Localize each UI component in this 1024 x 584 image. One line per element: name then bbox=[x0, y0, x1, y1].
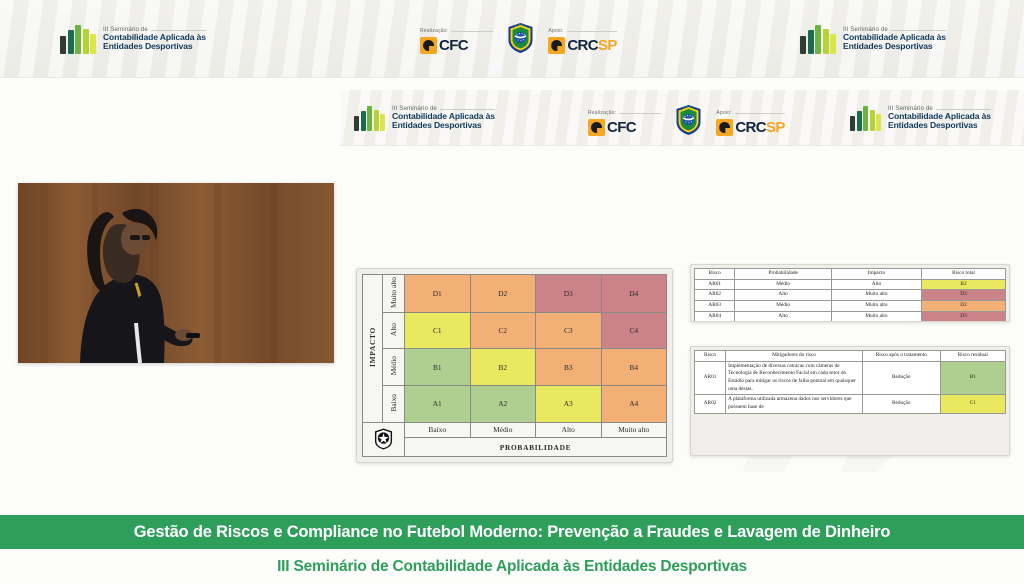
cell-impacto: Alto bbox=[831, 279, 921, 290]
slide-partner-logos-group: Realização: CFC bbox=[588, 104, 785, 136]
prob-level-medio: Médio bbox=[470, 422, 536, 438]
matrix-row: Médio B1 B2 B3 B4 bbox=[363, 349, 667, 386]
cfc-logo: CFC bbox=[420, 37, 493, 54]
presentation-slide[interactable]: III Seminário de Contabilidade Aplicada … bbox=[340, 90, 1024, 472]
seminar-line2: Entidades Desportivas bbox=[103, 42, 206, 51]
matrix-cell-d1[interactable]: D1 bbox=[405, 275, 471, 313]
realizacao-label: Realização: bbox=[420, 28, 448, 34]
cell-impacto: Muito alto bbox=[831, 290, 921, 301]
slide-seminar-bars-icon-right bbox=[850, 105, 881, 131]
risk-register-card: Risco Probabilidade Impacto Risco total … bbox=[690, 264, 1010, 322]
matrix-cell-d4[interactable]: D4 bbox=[601, 275, 667, 313]
cell-risco-total: B2 bbox=[922, 279, 1006, 290]
speaker-video-feed[interactable] bbox=[18, 183, 334, 363]
table-row: AR01 Médio Alto B2 bbox=[695, 279, 1006, 290]
cell-impacto: Muito alto bbox=[831, 301, 921, 312]
table-header-row: Risco Probabilidade Impacto Risco total bbox=[695, 269, 1006, 280]
cell-risco-total: D3 bbox=[922, 290, 1006, 301]
slide-crcsp-logo: CRCSP bbox=[716, 119, 785, 136]
botafogo-crest-icon bbox=[374, 428, 393, 450]
matrix-axis-row: PROBABILIDADE bbox=[363, 438, 667, 457]
cell-tratamento: Redução bbox=[862, 361, 940, 395]
footer-subtitle-banner: III Seminário de Contabilidade Aplicada … bbox=[0, 549, 1024, 584]
table-header-row: Risco Mitigadores do risco Risco após o … bbox=[695, 351, 1006, 362]
cell-mitigadores: Implementação de diversas catracas com c… bbox=[726, 361, 863, 395]
cell-risco: AR02 bbox=[695, 290, 735, 301]
slide-apoio-block: Apoio: CRCSP bbox=[716, 110, 785, 136]
col-risco: Risco bbox=[695, 269, 735, 280]
risk-register-table: Risco Probabilidade Impacto Risco total … bbox=[694, 268, 1006, 322]
slide-header-banner: III Seminário de Contabilidade Aplicada … bbox=[340, 90, 1024, 146]
slide-cfc-logo: CFC bbox=[588, 119, 661, 136]
impact-level-alto: Alto bbox=[383, 312, 405, 349]
matrix-cell-a1[interactable]: A1 bbox=[405, 385, 471, 422]
seminar-logo-right: III Seminário de Contabilidade Aplicada … bbox=[800, 24, 946, 54]
col-impacto: Impacto bbox=[831, 269, 921, 280]
cell-risco: AR02 bbox=[695, 395, 726, 413]
matrix-cell-d3[interactable]: D3 bbox=[536, 275, 602, 313]
slide-realizacao-block: Realização: CFC bbox=[588, 110, 661, 136]
slide-sp-wordmark: SP bbox=[766, 119, 785, 136]
crc-wordmark: CRC bbox=[567, 37, 598, 54]
slide-seminar-line2: Entidades Desportivas bbox=[392, 121, 495, 130]
slide-cfc-wordmark: CFC bbox=[607, 119, 636, 136]
crcsp-logo: CRCSP bbox=[548, 37, 617, 54]
col-residual: Risco residual bbox=[940, 351, 1005, 362]
col-probabilidade: Probabilidade bbox=[735, 269, 831, 280]
risk-matrix-card: IMPACTO Muito alto D1 D2 D3 D4 Alto C1 C… bbox=[356, 268, 673, 463]
matrix-prob-row: Baixo Médio Alto Muito alto bbox=[363, 422, 667, 438]
cell-risco: AR01 bbox=[695, 361, 726, 395]
matrix-cell-c3[interactable]: C3 bbox=[536, 312, 602, 349]
realizacao-block: Realização: CFC bbox=[420, 28, 493, 54]
cbf-crest-icon bbox=[507, 22, 534, 54]
table-row-clipped: AR04 Alto Muito alto D3 bbox=[695, 311, 1006, 322]
footer-subtitle: III Seminário de Contabilidade Aplicada … bbox=[277, 558, 747, 576]
footer-title: Gestão de Riscos e Compliance no Futebol… bbox=[134, 523, 891, 542]
slide-seminar-logo-left: III Seminário de Contabilidade Aplicada … bbox=[354, 105, 495, 131]
matrix-cell-b1[interactable]: B1 bbox=[405, 349, 471, 386]
risk-matrix-table: IMPACTO Muito alto D1 D2 D3 D4 Alto C1 C… bbox=[362, 274, 667, 457]
cell-probabilidade: Médio bbox=[735, 301, 831, 312]
cell-probabilidade: Médio bbox=[735, 279, 831, 290]
col-risco: Risco bbox=[695, 351, 726, 362]
seminar-line2-right: Entidades Desportivas bbox=[843, 42, 946, 51]
slide-crcsp-swoosh-icon bbox=[716, 119, 733, 136]
matrix-cell-b3[interactable]: B3 bbox=[536, 349, 602, 386]
cell-mitigadores: A plataforma utilizada armazena dados no… bbox=[726, 395, 863, 413]
cell-risco: AR03 bbox=[695, 301, 735, 312]
slide-apoio-label: Apoio: bbox=[716, 110, 731, 116]
impact-level-muito-alto: Muito alto bbox=[383, 275, 405, 313]
seminar-logo-left: III Seminário de Contabilidade Aplicada … bbox=[60, 24, 206, 54]
prob-level-baixo: Baixo bbox=[405, 422, 471, 438]
cell-probabilidade: Alto bbox=[735, 290, 831, 301]
probability-axis-label: PROBABILIDADE bbox=[405, 438, 667, 457]
mitigation-table-card: Risco Mitigadores do risco Risco após o … bbox=[690, 346, 1010, 456]
cfc-swoosh-icon bbox=[420, 37, 437, 54]
cell-risco: AR01 bbox=[695, 279, 735, 290]
slide-seminar-line2-right: Entidades Desportivas bbox=[888, 121, 991, 130]
col-tratamento: Risco após o tratamento bbox=[862, 351, 940, 362]
matrix-cell-c4[interactable]: C4 bbox=[601, 312, 667, 349]
cell-impacto: Muito alto bbox=[831, 311, 921, 322]
matrix-cell-c1[interactable]: C1 bbox=[405, 312, 471, 349]
partner-logos-group: Realização: CFC bbox=[420, 22, 617, 54]
slide-body: IMPACTO Muito alto D1 D2 D3 D4 Alto C1 C… bbox=[340, 146, 1024, 472]
cell-residual: C1 bbox=[940, 395, 1005, 413]
impact-level-baixo: Baixo bbox=[383, 385, 405, 422]
sp-wordmark: SP bbox=[598, 37, 617, 54]
col-risco-total: Risco total bbox=[922, 269, 1006, 280]
slide-realizacao-label: Realização: bbox=[588, 110, 616, 116]
cell-risco: AR04 bbox=[695, 311, 735, 322]
impact-axis-label: IMPACTO bbox=[363, 275, 383, 423]
apoio-block: Apoio: CRCSP bbox=[548, 28, 617, 54]
matrix-cell-a3[interactable]: A3 bbox=[536, 385, 602, 422]
prob-level-alto: Alto bbox=[536, 422, 602, 438]
prob-level-muito-alto: Muito alto bbox=[601, 422, 667, 438]
cell-probabilidade: Alto bbox=[735, 311, 831, 322]
slide-seminar-logo-right: III Seminário de Contabilidade Aplicada … bbox=[850, 105, 991, 131]
matrix-row: Baixo A1 A2 A3 A4 bbox=[363, 385, 667, 422]
slide-crc-wordmark: CRC bbox=[735, 119, 766, 136]
crcsp-swoosh-icon bbox=[548, 37, 565, 54]
matrix-cell-b2[interactable]: B2 bbox=[470, 349, 536, 386]
cell-risco-total: D3 bbox=[922, 311, 1006, 322]
cell-residual: B1 bbox=[940, 361, 1005, 395]
video-frame-image bbox=[18, 183, 334, 363]
matrix-cell-c2[interactable]: C2 bbox=[470, 312, 536, 349]
cell-tratamento: Redução bbox=[862, 395, 940, 413]
seminar-bars-icon-right bbox=[800, 24, 836, 54]
matrix-row: IMPACTO Muito alto D1 D2 D3 D4 bbox=[363, 275, 667, 313]
slide-cbf-crest-icon bbox=[675, 104, 702, 136]
matrix-cell-a4[interactable]: A4 bbox=[601, 385, 667, 422]
matrix-row: Alto C1 C2 C3 C4 bbox=[363, 312, 667, 349]
table-row: AR03 Médio Muito alto D2 bbox=[695, 301, 1006, 312]
cfc-wordmark: CFC bbox=[439, 37, 468, 54]
top-header-banner: III Seminário de Contabilidade Aplicada … bbox=[0, 0, 1024, 78]
slide-cfc-swoosh-icon bbox=[588, 119, 605, 136]
seminar-bars-icon bbox=[60, 24, 96, 54]
cell-risco-total: D2 bbox=[922, 301, 1006, 312]
col-mitigadores: Mitigadores do risco bbox=[726, 351, 863, 362]
matrix-cell-a2[interactable]: A2 bbox=[470, 385, 536, 422]
matrix-cell-b4[interactable]: B4 bbox=[601, 349, 667, 386]
mitigation-table: Risco Mitigadores do risco Risco após o … bbox=[694, 350, 1006, 414]
matrix-cell-d2[interactable]: D2 bbox=[470, 275, 536, 313]
table-row: AR01 Implementação de diversas catracas … bbox=[695, 361, 1006, 395]
slide-seminar-bars-icon bbox=[354, 105, 385, 131]
impact-level-medio: Médio bbox=[383, 349, 405, 386]
table-row-clipped: AR02 A plataforma utilizada armazena dad… bbox=[695, 395, 1006, 413]
table-row: AR02 Alto Muito alto D3 bbox=[695, 290, 1006, 301]
apoio-label: Apoio: bbox=[548, 28, 563, 34]
footer-title-banner: Gestão de Riscos e Compliance no Futebol… bbox=[0, 515, 1024, 549]
club-crest-cell bbox=[363, 422, 405, 456]
